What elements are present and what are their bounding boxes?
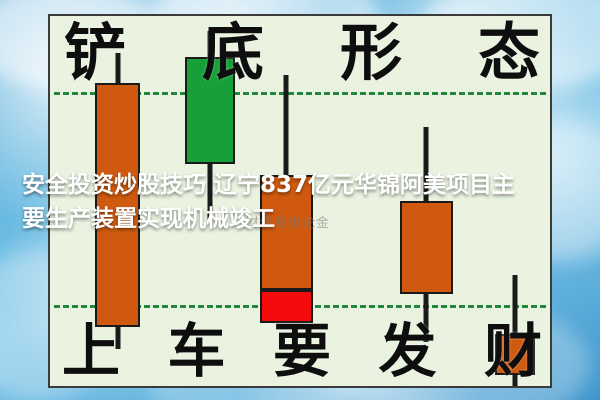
poster-top-text: 铲 底 形 态 <box>64 22 540 84</box>
poster-bottom-char-4: 财 <box>484 322 542 380</box>
headline-overlay: 安全投资炒股技巧 辽宁837亿元华锦阿美项目主 要生产装置实现机械竣工 <box>0 168 600 236</box>
headline-line-1: 安全投资炒股技巧 辽宁837亿元华锦阿美项目主 <box>22 172 515 198</box>
poster-top-char-3: 态 <box>478 22 540 84</box>
headline-line-2: 要生产装置实现机械竣工 <box>22 202 578 236</box>
poster-top-char-2: 形 <box>340 22 402 84</box>
poster-bottom-char-0: 上 <box>62 322 120 380</box>
poster-bottom-char-2: 要 <box>273 322 331 380</box>
poster-bottom-char-1: 车 <box>167 322 225 380</box>
poster-bottom-text: 上 车 要 发 财 <box>62 322 542 380</box>
poster-top-char-0: 铲 <box>64 22 126 84</box>
poster-top-char-1: 底 <box>202 22 264 84</box>
poster-bottom-char-3: 发 <box>378 322 436 380</box>
screenshot-root: 财经股市论金 铲 底 形 态 上 车 要 发 财 安全投资炒股技巧 辽宁837亿… <box>0 0 600 400</box>
